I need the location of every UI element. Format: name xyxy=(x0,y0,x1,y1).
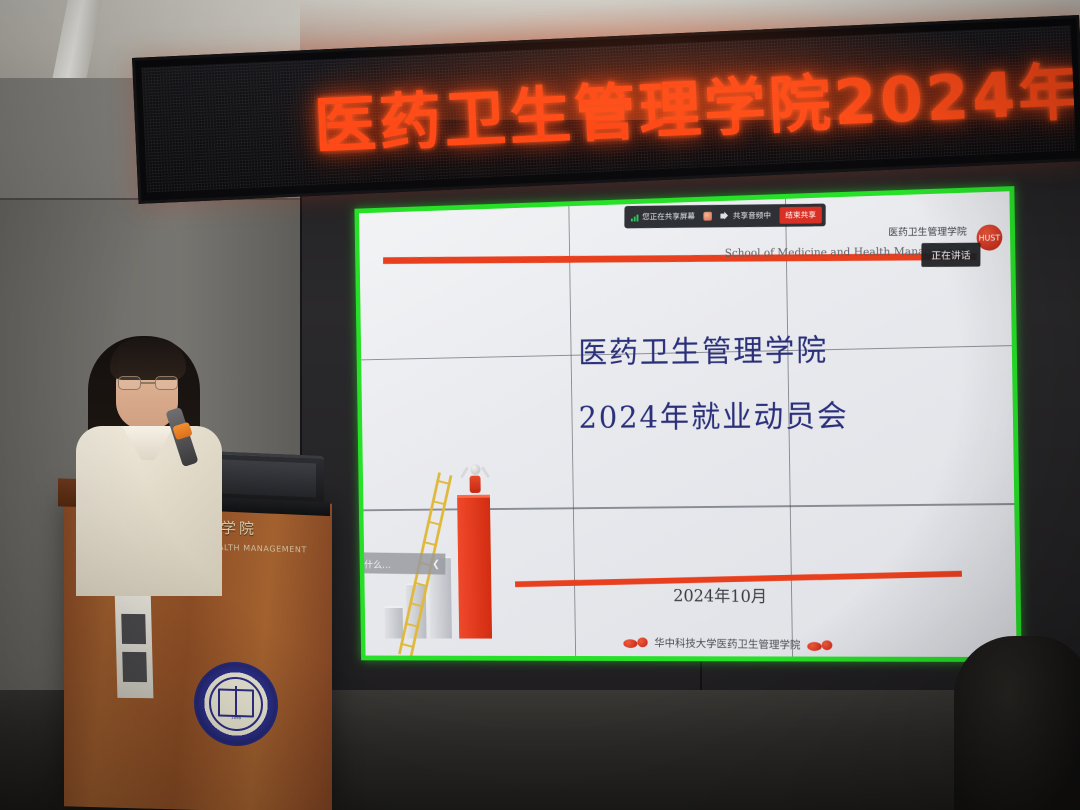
glasses-icon xyxy=(118,376,178,390)
rod-of-asclepius-icon xyxy=(235,685,237,711)
audience-silhouette xyxy=(954,636,1080,810)
led-banner-text: 医药卫生管理学院2024年就业动员大会 xyxy=(312,25,1076,165)
video-wall[interactable]: School of Medicine and Health Management… xyxy=(354,186,1021,662)
speaker-person xyxy=(70,330,260,590)
speaker-fringe xyxy=(110,338,186,380)
led-screen: 医药卫生管理学院2024年就业动员大会 xyxy=(141,25,1076,192)
photo-scene: 医药卫生管理学院2024年就业动员大会 School of Medicine a… xyxy=(0,0,1080,810)
posted-papers xyxy=(115,588,154,698)
screen-share-border xyxy=(354,186,1021,662)
book-icon xyxy=(218,688,254,713)
